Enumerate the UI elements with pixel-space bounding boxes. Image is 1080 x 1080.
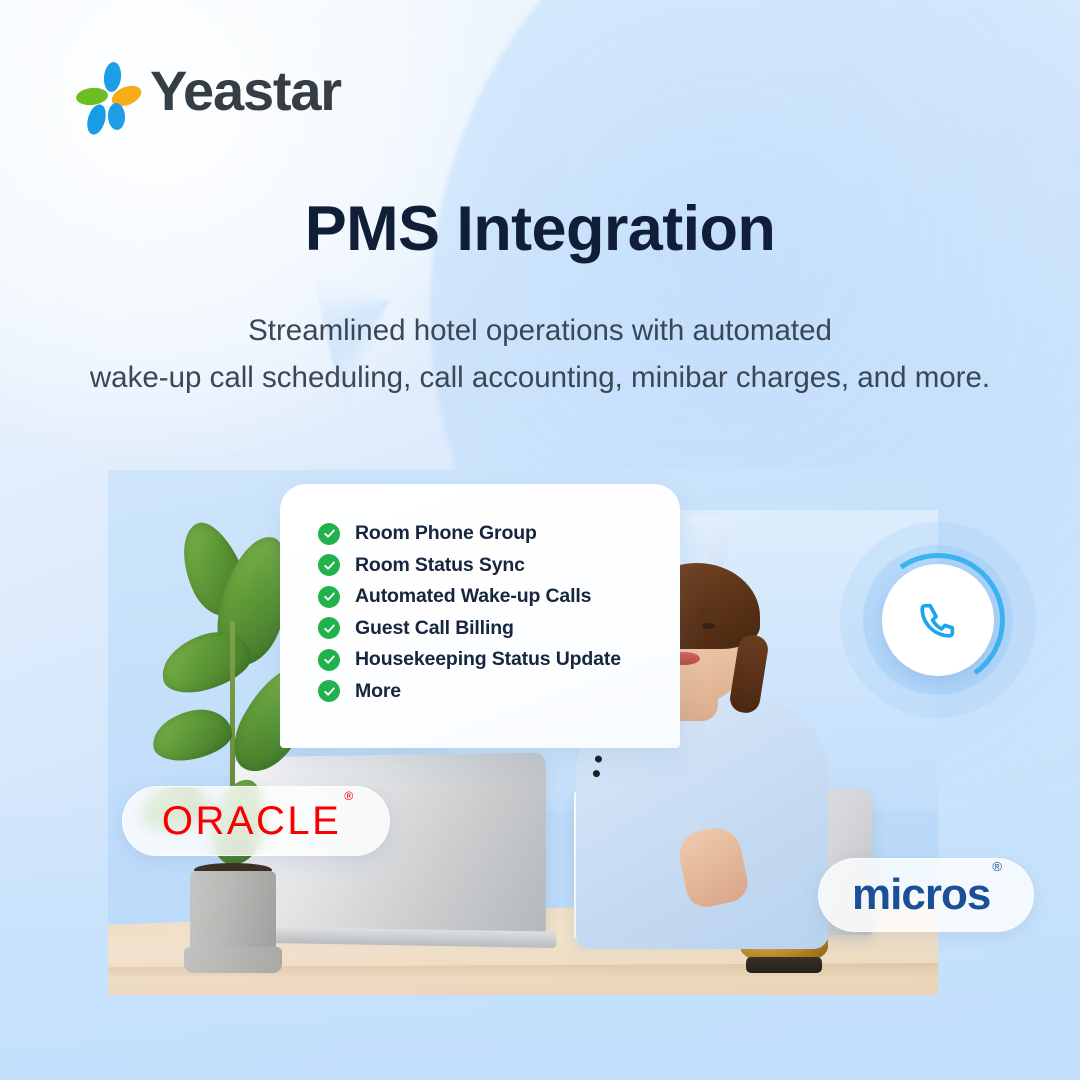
- oracle-trademark: ®: [344, 789, 353, 803]
- plant-pot: [190, 871, 276, 957]
- phone-badge: [838, 520, 1038, 720]
- poster-canvas: Yeastar PMS Integration Streamlined hote…: [0, 0, 1080, 1080]
- micros-logo: micros®: [852, 873, 1000, 917]
- list-item: Room Status Sync: [318, 550, 680, 582]
- list-item: Room Phone Group: [318, 518, 680, 550]
- check-circle-icon: [318, 523, 340, 545]
- oracle-logo-text: ORACLE: [162, 799, 342, 843]
- partner-badge-micros: micros®: [818, 858, 1034, 932]
- feature-label: Room Phone Group: [355, 522, 537, 545]
- oracle-logo: ORACLE®: [162, 801, 350, 841]
- brand-logo[interactable]: Yeastar: [78, 62, 341, 120]
- service-bell-base: [746, 957, 822, 973]
- feature-label: Room Status Sync: [355, 554, 525, 577]
- feature-list-card: Room Phone Group Room Status Sync Automa…: [280, 484, 680, 748]
- list-item: Automated Wake-up Calls: [318, 581, 680, 613]
- feature-label: Housekeeping Status Update: [355, 648, 621, 671]
- page-subtitle: Streamlined hotel operations with automa…: [0, 308, 1080, 401]
- eye: [702, 623, 715, 629]
- partner-badge-oracle: ORACLE®: [122, 786, 390, 856]
- check-circle-icon: [318, 680, 340, 702]
- page-title: PMS Integration: [0, 196, 1080, 262]
- feature-label: Automated Wake-up Calls: [355, 585, 591, 608]
- phone-handset-icon: [917, 599, 959, 641]
- micros-trademark: ®: [992, 859, 1002, 874]
- feature-label: Guest Call Billing: [355, 617, 514, 640]
- list-item: More: [318, 676, 680, 708]
- list-item: Guest Call Billing: [318, 613, 680, 645]
- yeastar-flower-logo-icon: [78, 62, 136, 120]
- check-circle-icon: [318, 586, 340, 608]
- check-circle-icon: [318, 554, 340, 576]
- page-subtitle-line-1: Streamlined hotel operations with automa…: [0, 308, 1080, 355]
- plant-pot-base: [184, 947, 282, 973]
- brand-wordmark: Yeastar: [150, 63, 341, 119]
- check-circle-icon: [318, 617, 340, 639]
- list-item: Housekeeping Status Update: [318, 644, 680, 676]
- micros-logo-text: micros: [852, 870, 990, 919]
- logo-petal-left: [75, 86, 109, 106]
- plant-leaf: [148, 704, 235, 765]
- feature-label: More: [355, 680, 401, 703]
- check-circle-icon: [318, 649, 340, 671]
- page-subtitle-line-2: wake-up call scheduling, call accounting…: [0, 355, 1080, 402]
